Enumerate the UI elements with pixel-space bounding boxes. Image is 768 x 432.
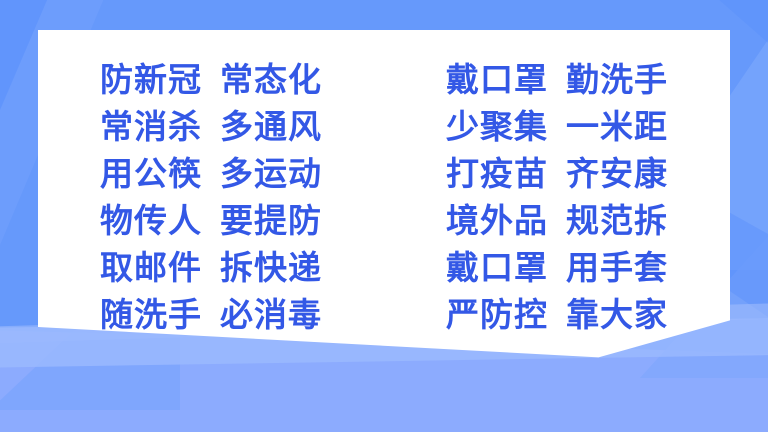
slogan-line: 戴口罩 勤洗手 xyxy=(446,60,668,101)
slogan-segment-a: 防新冠 xyxy=(100,60,202,101)
slogan-segment-a: 少聚集 xyxy=(446,107,548,148)
slogan-grid: 防新冠 常态化 常消杀 多通风 用公筷 多运动 物传人 要提防 取邮件 拆快递 … xyxy=(38,30,730,360)
slogan-segment-b: 多通风 xyxy=(220,107,322,148)
slogan-line: 用公筷 多运动 xyxy=(100,154,322,195)
slogan-line: 戴口罩 用手套 xyxy=(446,248,668,289)
slogan-segment-a: 戴口罩 xyxy=(446,248,548,289)
slogan-segment-b: 要提防 xyxy=(220,201,322,242)
slogan-segment-a: 随洗手 xyxy=(100,295,202,336)
slogan-segment-b: 靠大家 xyxy=(566,295,668,336)
slogan-line: 严防控 靠大家 xyxy=(446,295,668,336)
slogan-line: 取邮件 拆快递 xyxy=(100,248,322,289)
slogan-segment-b: 勤洗手 xyxy=(566,60,668,101)
slogan-line: 随洗手 必消毒 xyxy=(100,295,322,336)
slogan-segment-a: 戴口罩 xyxy=(446,60,548,101)
slogan-segment-a: 用公筷 xyxy=(100,154,202,195)
slogan-segment-b: 一米距 xyxy=(566,107,668,148)
slogan-segment-a: 取邮件 xyxy=(100,248,202,289)
slogan-segment-b: 常态化 xyxy=(220,60,322,101)
slogan-line: 防新冠 常态化 xyxy=(100,60,322,101)
slogan-segment-a: 境外品 xyxy=(446,201,548,242)
slogan-line: 境外品 规范拆 xyxy=(446,201,668,242)
left-column: 防新冠 常态化 常消杀 多通风 用公筷 多运动 物传人 要提防 取邮件 拆快递 … xyxy=(100,60,322,335)
poster-slide: 防新冠 常态化 常消杀 多通风 用公筷 多运动 物传人 要提防 取邮件 拆快递 … xyxy=(0,0,768,432)
slogan-line: 物传人 要提防 xyxy=(100,201,322,242)
slogan-segment-b: 用手套 xyxy=(566,248,668,289)
slogan-segment-b: 齐安康 xyxy=(566,154,668,195)
slogan-segment-b: 多运动 xyxy=(220,154,322,195)
slogan-line: 少聚集 一米距 xyxy=(446,107,668,148)
slogan-line: 常消杀 多通风 xyxy=(100,107,322,148)
slogan-segment-a: 严防控 xyxy=(446,295,548,336)
slogan-line: 打疫苗 齐安康 xyxy=(446,154,668,195)
slogan-segment-b: 规范拆 xyxy=(566,201,668,242)
slogan-segment-a: 打疫苗 xyxy=(446,154,548,195)
right-column: 戴口罩 勤洗手 少聚集 一米距 打疫苗 齐安康 境外品 规范拆 戴口罩 用手套 … xyxy=(446,60,668,335)
slogan-segment-a: 物传人 xyxy=(100,201,202,242)
slogan-segment-b: 拆快递 xyxy=(220,248,322,289)
slogan-segment-b: 必消毒 xyxy=(220,295,322,336)
slogan-segment-a: 常消杀 xyxy=(100,107,202,148)
